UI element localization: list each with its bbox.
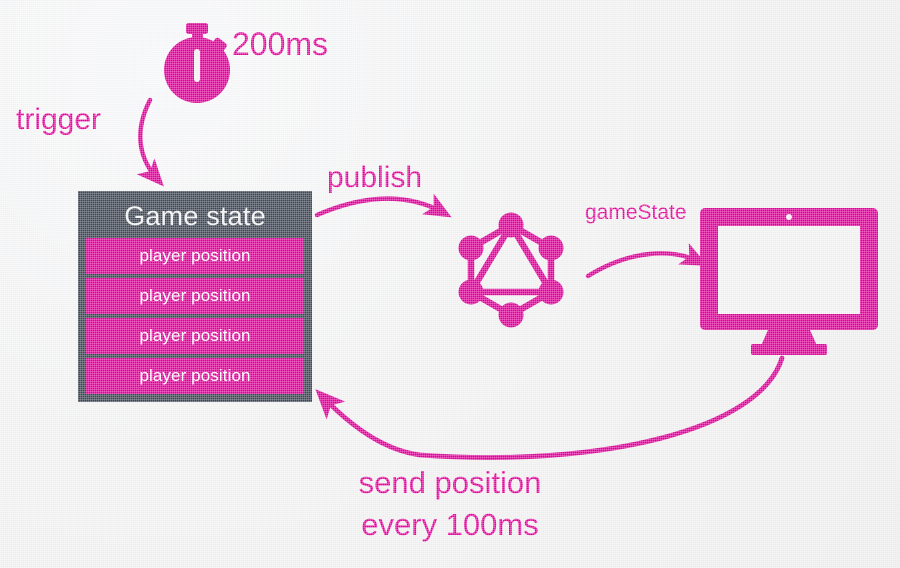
list-item[interactable]: player position	[86, 318, 304, 354]
arrow-label-publish: publish	[327, 161, 422, 195]
game-state-title: Game state	[86, 196, 304, 238]
arrow-label-gamestate: gameState	[585, 201, 687, 225]
arrow-publish	[317, 199, 444, 215]
list-item[interactable]: player position	[86, 238, 304, 274]
game-state-box: Game state player position player positi…	[78, 191, 312, 402]
stopwatch-icon	[164, 23, 230, 103]
list-item[interactable]: player position	[86, 358, 304, 394]
arrow-trigger	[140, 100, 158, 180]
send-position-line-1: send position	[0, 462, 900, 504]
graphql-logo-icon	[471, 225, 551, 315]
send-position-line-2: every 100ms	[0, 504, 900, 546]
list-item[interactable]: player position	[86, 278, 304, 314]
diagram-canvas: Game state player position player positi…	[0, 0, 900, 568]
timer-duration-label: 200ms	[232, 26, 328, 63]
arrow-label-trigger: trigger	[16, 103, 101, 137]
player-position-list: player position player position player p…	[86, 238, 304, 394]
arrow-gamestate	[588, 253, 700, 276]
arrow-label-send-position: send position every 100ms	[0, 462, 900, 546]
arrow-send-position	[322, 358, 782, 458]
monitor-icon	[700, 208, 878, 355]
